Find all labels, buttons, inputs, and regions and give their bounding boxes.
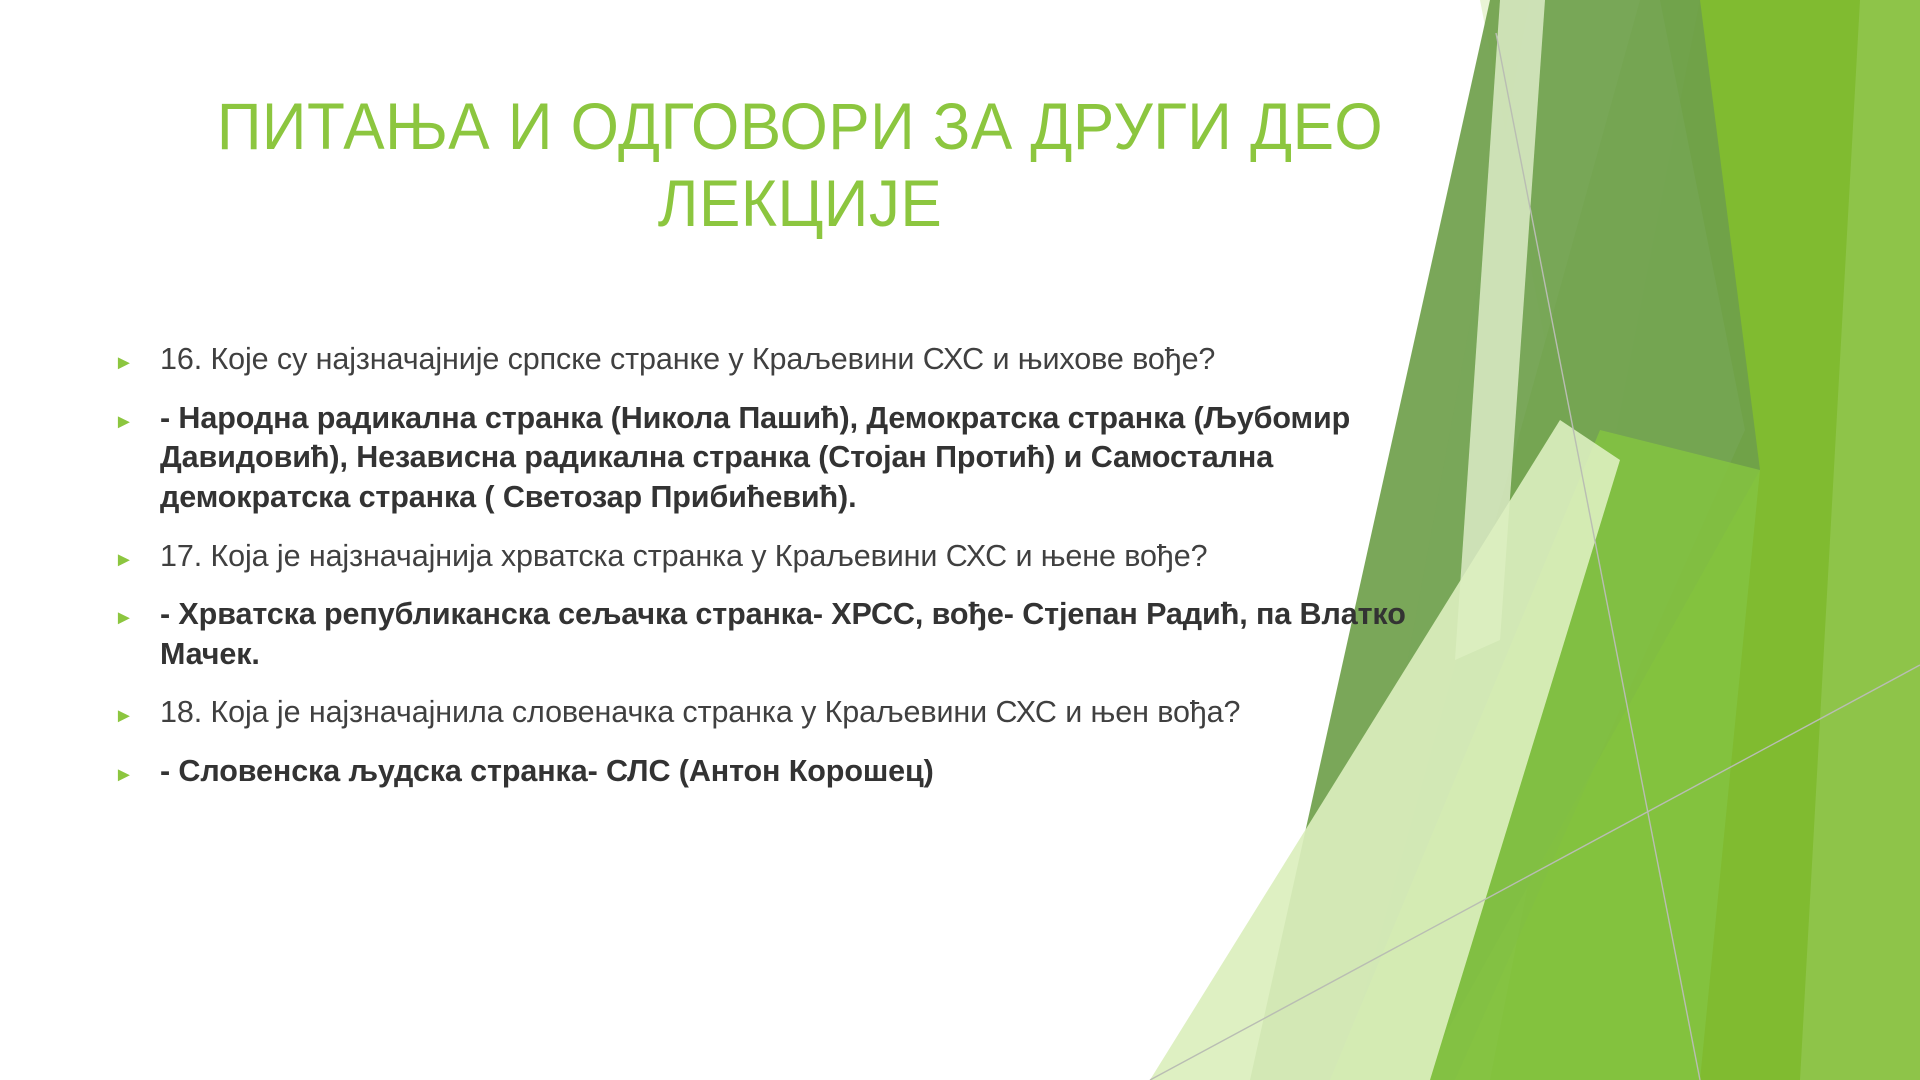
decor-shape-bright-green xyxy=(1490,0,1920,1080)
bullet-text-q17: 17. Која је најзначајнија хрватска стран… xyxy=(160,537,1450,577)
bullet-item-a18: ► - Словенска људска странка- СЛС (Антон… xyxy=(100,752,1450,792)
bullet-text-a18: - Словенска људска странка- СЛС (Антон К… xyxy=(160,752,1450,792)
bullet-text-q16: 16. Које су најзначајније српске странке… xyxy=(160,340,1450,380)
slide-title: ПИТАЊА И ОДГОВОРИ ЗА ДРУГИ ДЕО ЛЕКЦИЈЕ xyxy=(189,88,1411,241)
bullet-text-a17: - Хрватска републиканска сељачка странка… xyxy=(160,595,1450,674)
triangle-bullet-icon: ► xyxy=(100,537,160,570)
bullet-item-q18: ► 18. Која је најзначајнила словеначка с… xyxy=(100,693,1450,733)
triangle-bullet-icon: ► xyxy=(100,595,160,628)
triangle-bullet-icon: ► xyxy=(100,399,160,432)
bullet-item-q16: ► 16. Које су најзначајније српске стран… xyxy=(100,340,1450,380)
bullet-text-q18: 18. Која је најзначајнила словеначка стр… xyxy=(160,693,1450,733)
triangle-bullet-icon: ► xyxy=(100,340,160,373)
bullet-item-a16: ► - Народна радикална странка (Никола Па… xyxy=(100,399,1450,518)
bullet-text-a16: - Народна радикална странка (Никола Паши… xyxy=(160,399,1450,518)
decor-shape-lightest-right xyxy=(1800,0,1920,1080)
bullet-item-a17: ► - Хрватска републиканска сељачка стран… xyxy=(100,595,1450,674)
triangle-bullet-icon: ► xyxy=(100,693,160,726)
bullet-item-q17: ► 17. Која је најзначајнија хрватска стр… xyxy=(100,537,1450,577)
triangle-bullet-icon: ► xyxy=(100,752,160,785)
presentation-slide: ПИТАЊА И ОДГОВОРИ ЗА ДРУГИ ДЕО ЛЕКЦИЈЕ ►… xyxy=(0,0,1920,1080)
decor-hairline-upper xyxy=(1496,33,1700,1080)
bullet-list: ► 16. Које су најзначајније српске стран… xyxy=(100,340,1450,811)
decor-shape-mint-sliver xyxy=(1455,0,1545,660)
